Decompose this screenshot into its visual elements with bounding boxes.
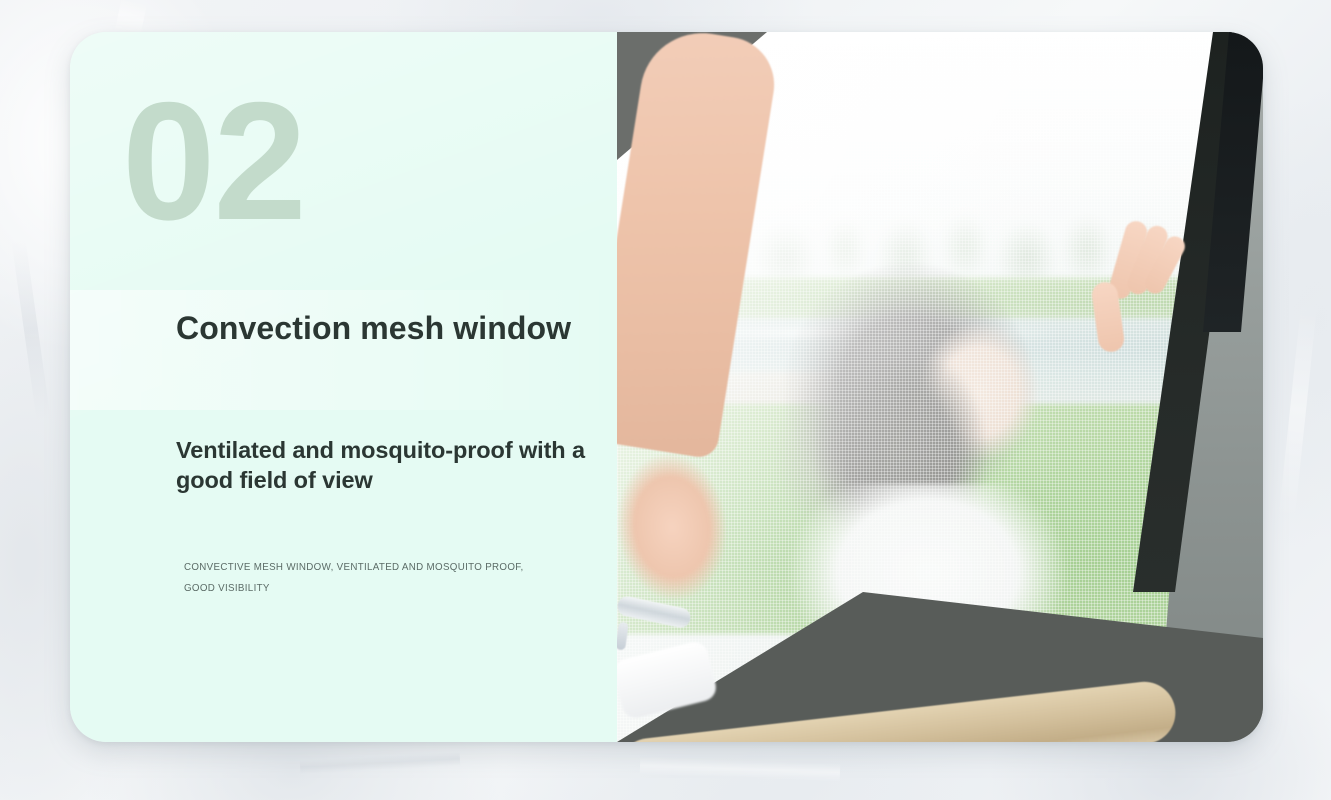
card-subheadline: Ventilated and mosquito-proof with a goo… [176, 436, 606, 495]
card-headline: Convection mesh window [176, 308, 596, 348]
step-number: 02 [122, 77, 305, 245]
texture-crease [300, 752, 461, 774]
texture-crease [1279, 300, 1318, 520]
texture-crease [12, 240, 51, 420]
texture-crease [640, 757, 841, 782]
card-caption: CONVECTIVE MESH WINDOW, VENTILATED AND M… [184, 557, 556, 599]
card-text-panel: 02 Convection mesh window Ventilated and… [70, 32, 617, 742]
page-background: 02 Convection mesh window Ventilated and… [0, 0, 1331, 800]
photo-vignette [617, 32, 1263, 742]
texture-crease [115, 0, 148, 36]
feature-card: 02 Convection mesh window Ventilated and… [70, 32, 1263, 742]
product-photo [617, 32, 1263, 742]
